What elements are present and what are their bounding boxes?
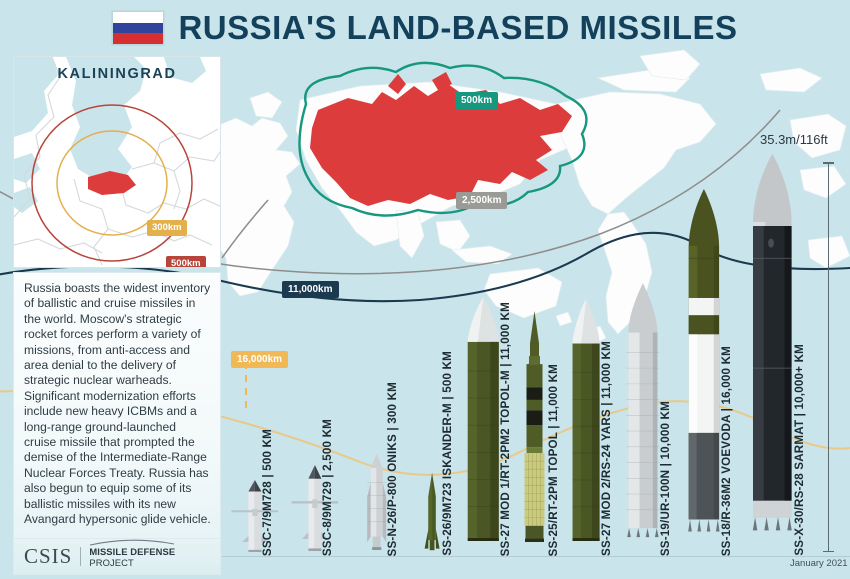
missile-bar: SSC-7/9M728 | 500 KM xyxy=(248,484,261,556)
kaliningrad-inset-map: KALININGRAD 300km 500km xyxy=(13,56,221,268)
missile-bar: SS-25/RT-2PM TOPOL | 11,000 KM xyxy=(522,325,547,556)
mdp-light: PROJECT xyxy=(89,557,133,568)
missile-defense-project-label: MISSILE DEFENSE PROJECT xyxy=(89,546,220,568)
map-label-11000km: 11,000km xyxy=(282,281,339,298)
missile-bar: SS-18/R-36M2 VOEVODA | 16,000 KM xyxy=(687,210,720,556)
description-text: Russia boasts the widest inventory of ba… xyxy=(24,281,211,528)
scale-bar xyxy=(828,162,829,552)
ring-label-500km: 500km xyxy=(166,256,206,268)
map-label-2500km: 2,500km xyxy=(456,192,507,209)
russian-flag-icon xyxy=(112,11,164,45)
map-label-500km: 500km xyxy=(455,92,498,109)
mdp-bold: MISSILE DEFENSE xyxy=(89,546,175,557)
brand-divider xyxy=(80,547,81,566)
missile-bar: SS-27 MOD 2/RS-24 YARS | 11,000 KM xyxy=(573,314,600,556)
csis-logo: CSIS xyxy=(24,544,72,569)
missile-bar: SS-26/9M723 ISKANDER-M | 500 KM xyxy=(424,478,441,556)
map-label-16000km: 16,000km xyxy=(231,351,288,368)
missile-bar: SS-27 MOD 1/RT-2PM2 TOPOL-M | 11,000 KM xyxy=(468,312,499,556)
kaliningrad-map-svg xyxy=(14,57,221,268)
missile-label: SSC-7/9M728 | 500 KM xyxy=(262,429,274,556)
missile-silhouette xyxy=(719,154,826,556)
missile-label: SS-N-26/P-800 ONIKS | 300 KM xyxy=(387,382,399,556)
date-stamp: January 2021 xyxy=(790,558,848,569)
missile-bar: SSC-8/9M729 | 2,500 KM xyxy=(308,470,321,556)
page-title: RUSSIA'S LAND-BASED MISSILES xyxy=(178,9,737,47)
csis-branding: CSIS MISSILE DEFENSE PROJECT xyxy=(13,539,221,575)
missile-label: SSC-8/9M729 | 2,500 KM xyxy=(322,419,334,556)
missile-bar: SS-19/UR-100N | 10,000 KM xyxy=(626,298,659,556)
missile-label: SS-X-30/RS-28 SARMAT | 10,000+ KM xyxy=(794,344,806,556)
infographic-root: RUSSIA'S LAND-BASED MISSILES xyxy=(0,0,850,579)
description-panel: Russia boasts the widest inventory of ba… xyxy=(13,272,221,539)
max-height-caption: 35.3m/116ft xyxy=(760,132,828,147)
missile-bar: SS-N-26/P-800 ONIKS | 300 KM xyxy=(367,460,386,556)
ring-label-300km: 300km xyxy=(147,220,187,236)
swoosh-icon xyxy=(89,539,175,546)
header: RUSSIA'S LAND-BASED MISSILES xyxy=(0,4,850,52)
missile-bar: SS-X-30/RS-28 SARMAT | 10,000+ KM xyxy=(752,177,793,556)
inset-title: KALININGRAD xyxy=(14,66,220,82)
